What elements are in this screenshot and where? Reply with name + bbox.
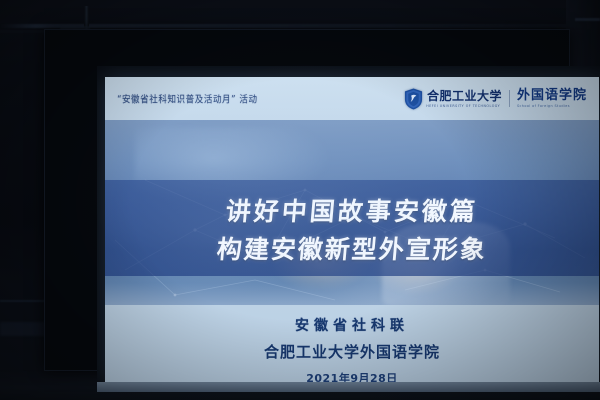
hero-banner-photo: 讲好中国故事安徽篇 构建安徽新型外宣形象 bbox=[105, 120, 599, 305]
slide-title-line-1: 讲好中国故事安徽篇 bbox=[105, 192, 599, 228]
event-label: “安徽省社科知识普及活动月” 活动 bbox=[117, 92, 258, 106]
school-name-block: 外国语学院 School of Foreign Studies bbox=[517, 89, 587, 108]
presentation-slide: “安徽省社科知识普及活动月” 活动 合肥工业大学 HEFEI UNIVERSIT… bbox=[105, 77, 599, 382]
screen-bottom-band bbox=[97, 382, 600, 392]
wall-panel-left bbox=[0, 322, 48, 336]
organizer-name: 安徽省社科联 bbox=[295, 315, 409, 335]
brand-divider bbox=[509, 90, 510, 107]
co-organizer-name: 合肥工业大学外国语学院 bbox=[264, 341, 440, 362]
brand-lockup: 合肥工业大学 HEFEI UNIVERSITY OF TECHNOLOGY 外国… bbox=[404, 88, 587, 110]
university-name-en: HEFEI UNIVERSITY OF TECHNOLOGY bbox=[426, 104, 500, 108]
ceiling-rail bbox=[0, 24, 600, 28]
school-name-cn: 外国语学院 bbox=[517, 89, 587, 102]
wall-seam-right bbox=[575, 18, 600, 21]
slide-header: “安徽省社科知识普及活动月” 活动 合肥工业大学 HEFEI UNIVERSIT… bbox=[105, 77, 599, 120]
university-name-block: 合肥工业大学 HEFEI UNIVERSITY OF TECHNOLOGY bbox=[427, 90, 502, 108]
school-name-en: School of Foreign Studies bbox=[517, 104, 570, 108]
wall-seam-left bbox=[0, 300, 48, 302]
slide-footer: 安徽省社科联 合肥工业大学外国语学院 2021年9月28日 bbox=[105, 305, 599, 382]
event-date: 2021年9月28日 bbox=[306, 370, 398, 382]
university-name-cn: 合肥工业大学 bbox=[427, 90, 502, 102]
slide-title-line-2: 构建安徽新型外宣形象 bbox=[105, 230, 599, 266]
projection-screen-surface: “安徽省社科知识普及活动月” 活动 合肥工业大学 HEFEI UNIVERSIT… bbox=[97, 66, 600, 392]
projection-screen-frame: “安徽省社科知识普及活动月” 活动 合肥工业大学 HEFEI UNIVERSIT… bbox=[44, 29, 570, 371]
shield-logo-icon bbox=[404, 88, 423, 110]
